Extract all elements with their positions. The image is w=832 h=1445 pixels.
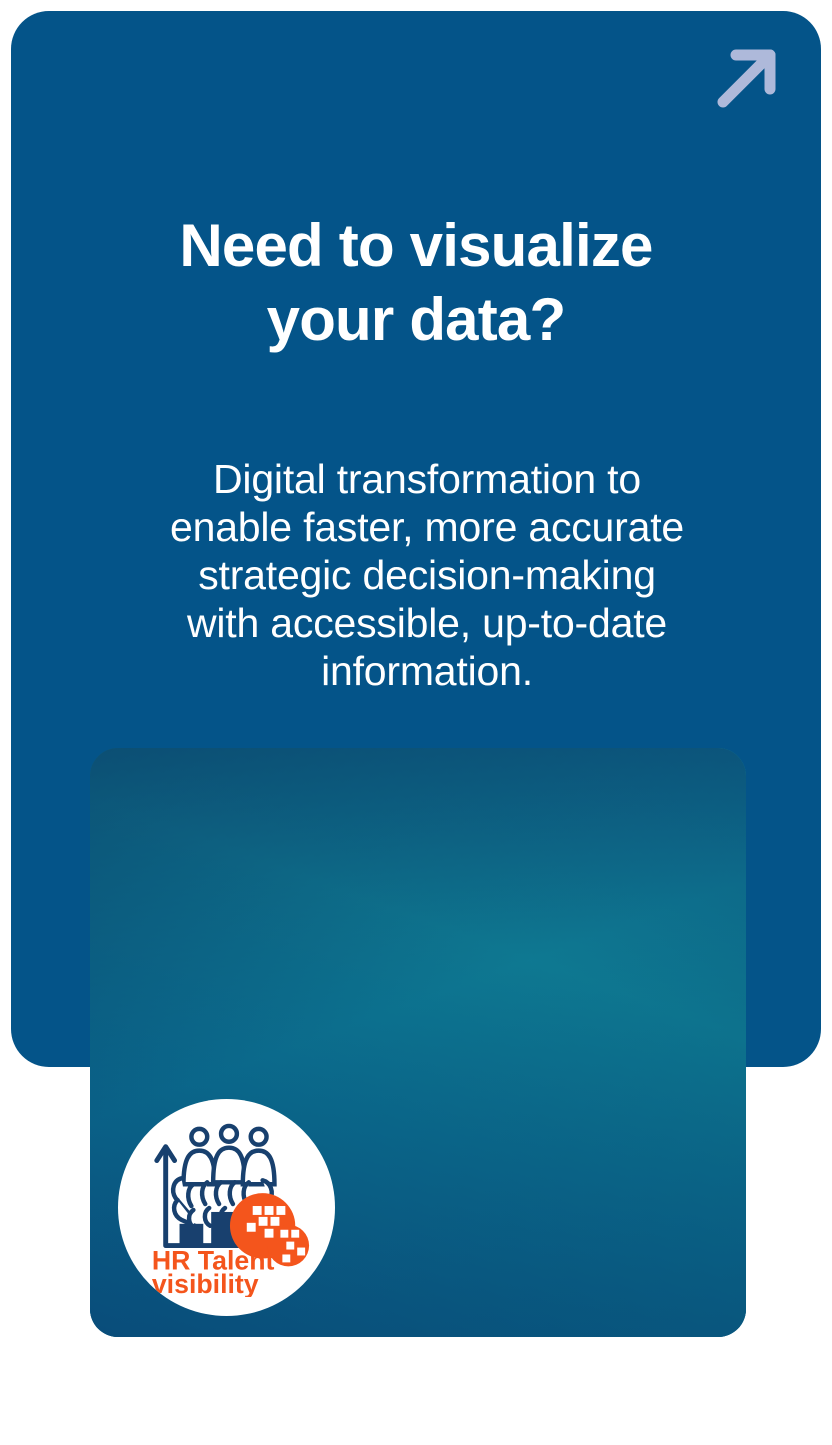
body-paragraph: Digital transformation to enable faster,… [97,455,757,695]
body-line-4: with accessible, up-to-date [97,599,757,647]
headline-line-1: Need to visualize [71,209,761,283]
body-line-3: strategic decision-making [97,551,757,599]
arrow-up-right-icon[interactable] [707,37,789,119]
headline-line-2: your data? [71,283,761,357]
body-line-1: Digital transformation to [97,455,757,503]
hr-talent-visibility-logo[interactable]: HR Talent visibility [118,1099,335,1316]
promo-banner-screen: Need to visualize your data? Digital tra… [0,0,832,1445]
body-line-5: information. [97,647,757,695]
page-title: Need to visualize your data? [71,209,761,357]
logo-line-2: visibility [151,1269,258,1297]
body-line-2: enable faster, more accurate [97,503,757,551]
